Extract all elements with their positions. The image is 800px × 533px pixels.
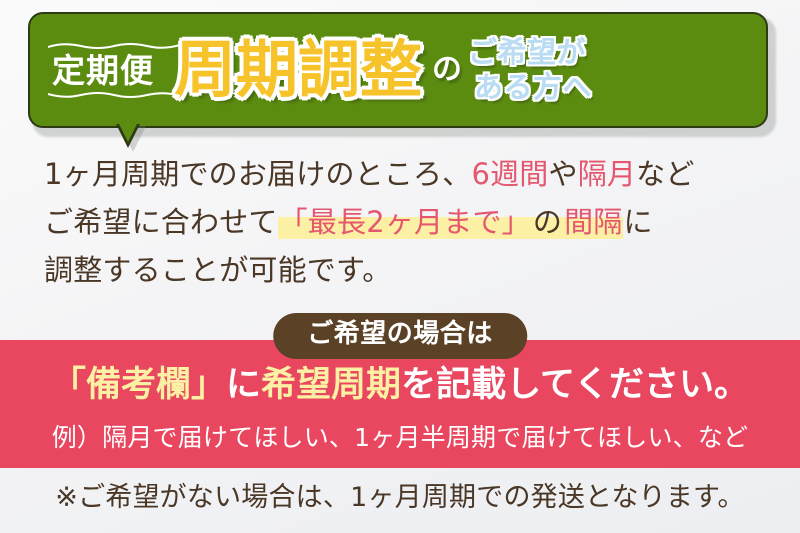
description-line2-highlight-particle: の (532, 205, 563, 239)
header-audience-text: ご希望が ある方へ (468, 35, 592, 106)
description-line-1: 1ヶ月周期でのお届けのところ、6週間や隔月など (44, 150, 760, 198)
request-case-pill: ご希望の場合は (273, 313, 527, 359)
description-line2-part2: に (623, 205, 652, 239)
pink-heading-part1: に (226, 365, 261, 405)
header-title: 周期調整 (174, 39, 422, 101)
bubble-tail-fill (118, 122, 138, 142)
header-audience-line2: ある方へ (468, 70, 592, 105)
pink-heading-desired-cycle: 希望周期 (261, 365, 401, 405)
pink-example-text: 例）隔月で届けてほしい、1ヶ月半周期で届けてほしい、など (0, 424, 800, 453)
header-green-box: 定期便 周期調整 の ご希望が ある方へ (28, 12, 768, 128)
promo-banner: 定期便 周期調整 の ご希望が ある方へ 1ヶ月周期でのお届けのところ、6週間や… (0, 0, 800, 533)
description-paragraph: 1ヶ月周期でのお届けのところ、6週間や隔月など ご希望に合わせて「最長2ヶ月まで… (44, 150, 760, 294)
description-line1-part1: 1ヶ月周期でのお届けのところ、 (44, 157, 471, 191)
description-line2-part1: ご希望に合わせて (44, 205, 278, 239)
wave-rule-bottom-icon (48, 91, 180, 99)
subscription-badge: 定期便 (48, 42, 158, 99)
pink-heading-part2: を記載してください。 (401, 365, 749, 405)
subscription-badge-label: 定期便 (52, 51, 154, 90)
footer-disclaimer: ※ご希望がない場合は、1ヶ月周期での発送となります。 (0, 482, 800, 514)
description-line1-part2: や (549, 157, 578, 191)
pink-heading-remarks-field: 「備考欄」 (51, 365, 226, 405)
description-line1-part3: など (636, 157, 694, 191)
description-line-2: ご希望に合わせて「最長2ヶ月まで」の間隔に (44, 198, 760, 246)
description-line-3: 調整することが可能です。 (44, 246, 760, 294)
description-line1-accent-6weeks: 6週間 (471, 157, 548, 191)
pink-instruction-heading: 「備考欄」に希望周期を記載してください。 (0, 366, 800, 405)
header-title-particle: の (432, 55, 462, 85)
wave-rule-top-icon (48, 42, 180, 50)
description-line1-accent-bimonthly: 隔月 (578, 157, 636, 191)
description-line2-highlight-interval: 間隔 (563, 205, 623, 239)
description-line2-highlight-maxtwomonths: 「最長2ヶ月まで」 (278, 205, 532, 239)
header-audience-line1: ご希望が (468, 35, 586, 69)
header-speech-bubble: 定期便 周期調整 の ご希望が ある方へ (28, 12, 772, 132)
